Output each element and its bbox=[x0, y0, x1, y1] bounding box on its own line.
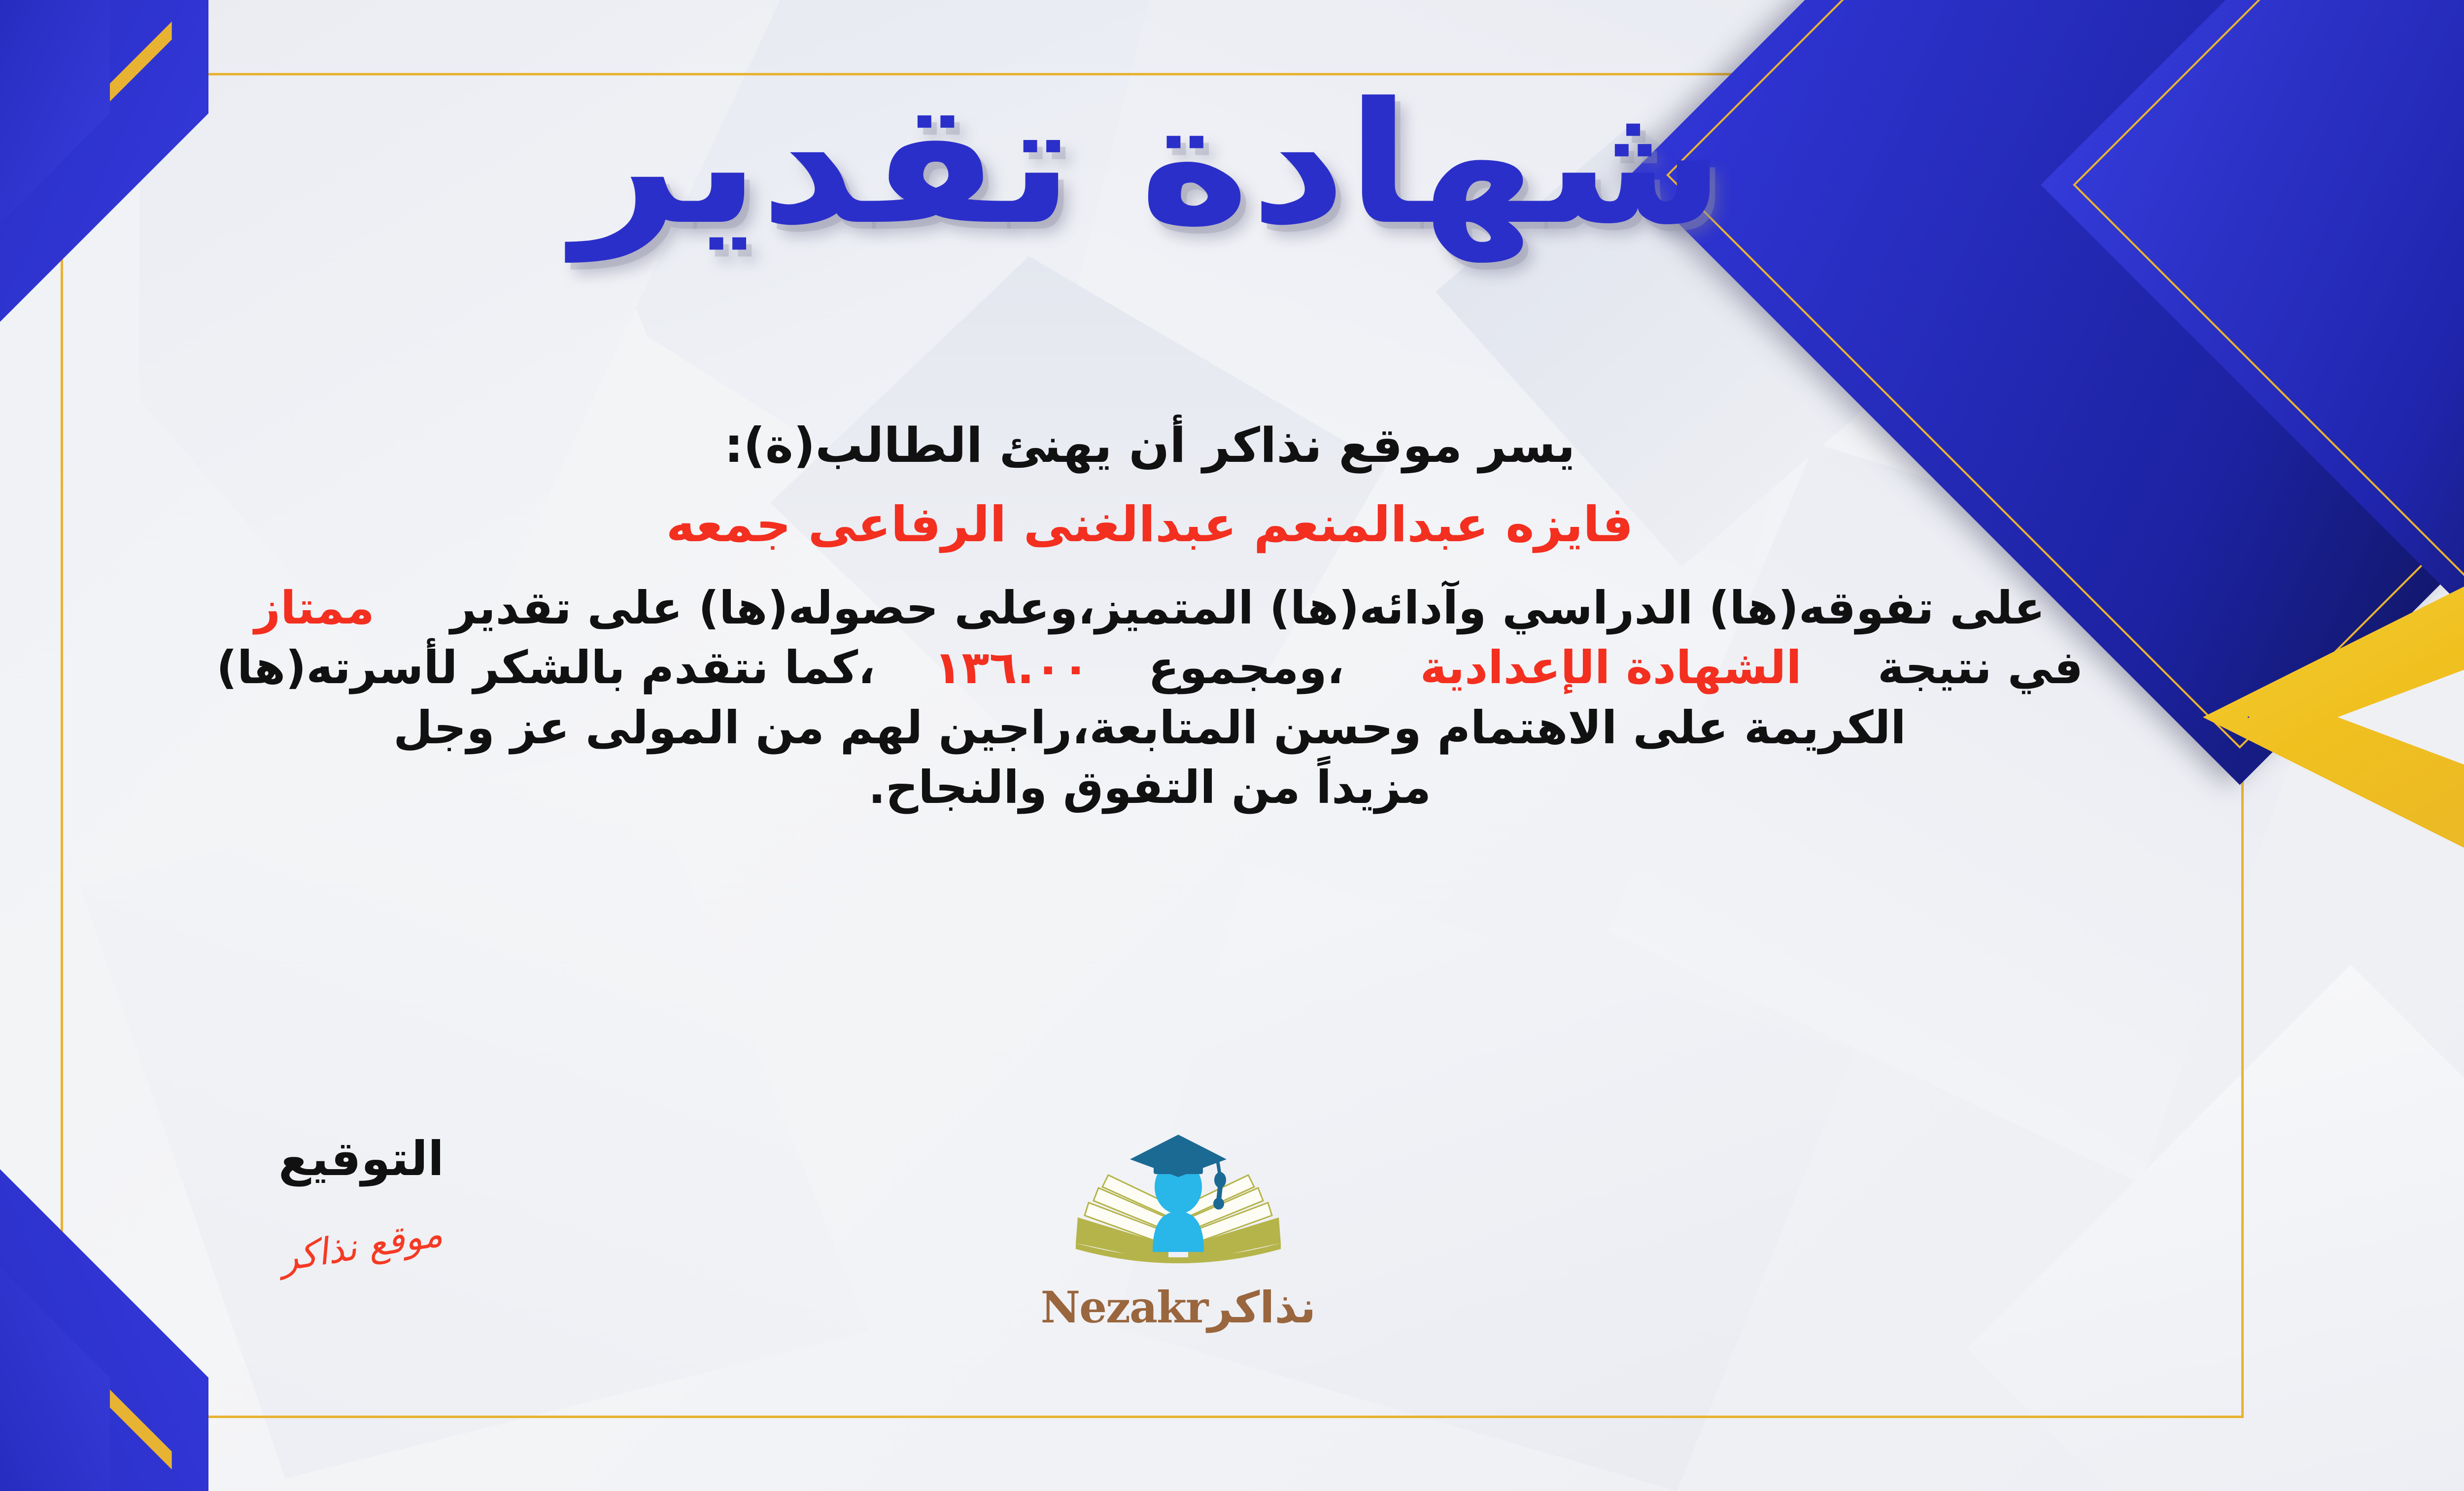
signature-label: التوقيع bbox=[223, 1131, 499, 1186]
result-prefix: في نتيجة bbox=[1878, 641, 2083, 694]
certificate-canvas: شهادة تقدير يسر موقع نذاكر أن يهنئ الطال… bbox=[0, 0, 2464, 1491]
achievement-text: على تفوقه(ها) الدراسي وآدائه(ها) المتميز… bbox=[450, 582, 2045, 634]
thanks-line: الكريمة على الاهتمام وحسن المتابعة،راجين… bbox=[0, 698, 2303, 758]
student-name: فايزه عبدالمنعم عبدالغنى الرفاعى جمعه bbox=[0, 493, 2303, 557]
logo-wordmark-latin: Nezakr bbox=[1041, 1282, 1208, 1333]
grade-value: ممتاز bbox=[254, 582, 375, 634]
result-line: في نتيجة الشهادة الإعدادية ،ومجموع ١٣٦.٠… bbox=[0, 638, 2303, 697]
logo-wordmark: Nezakrنذاكر bbox=[986, 1282, 1370, 1333]
achievement-line: على تفوقه(ها) الدراسي وآدائه(ها) المتميز… bbox=[0, 578, 2303, 638]
brand-logo: Nezakrنذاكر bbox=[986, 1129, 1370, 1333]
signature-script: موقع نذاكر bbox=[222, 1204, 501, 1289]
signature-block: التوقيع موقع نذاكر bbox=[223, 1131, 499, 1267]
total-score: ١٣٦.٠٠ bbox=[934, 641, 1090, 694]
exam-name: الشهادة الإعدادية bbox=[1420, 641, 1802, 694]
intro-line: يسر موقع نذاكر أن يهنئ الطالب(ة): bbox=[0, 414, 2303, 477]
graduate-book-icon bbox=[1070, 1129, 1287, 1277]
total-label: ،ومجموع bbox=[1148, 641, 1344, 694]
page-title: شهادة تقدير bbox=[0, 76, 2464, 252]
logo-wordmark-arabic: نذاكر bbox=[1207, 1282, 1316, 1333]
certificate-body: يسر موقع نذاكر أن يهنئ الطالب(ة): فايزه … bbox=[0, 414, 2303, 817]
thanks-prefix: ،كما نتقدم بالشكر لأسرته(ها) bbox=[216, 641, 875, 694]
closing-line: مزيداً من التفوق والنجاح. bbox=[0, 758, 2303, 817]
